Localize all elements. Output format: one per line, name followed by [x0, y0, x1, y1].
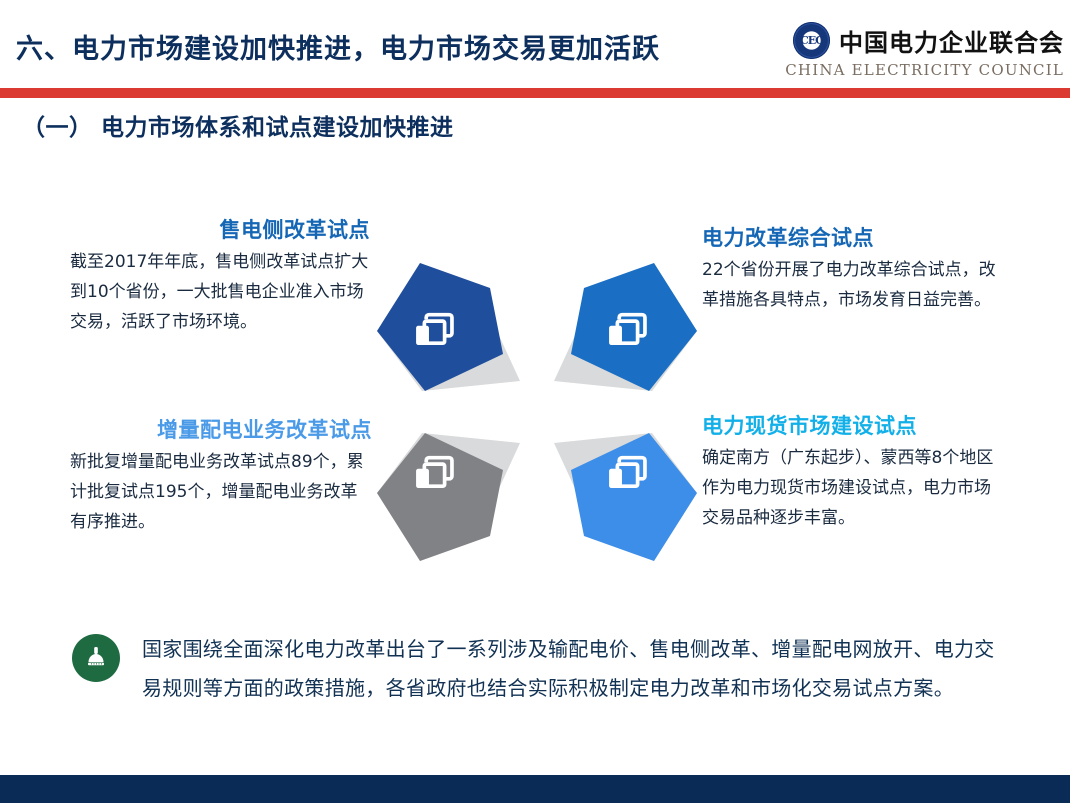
quadrant-bottom-left: 增量配电业务改革试点 新批复增量配电业务改革试点89个，累计批复试点195个，增…: [70, 414, 372, 537]
organization-logo: 中国电力企业联合会 CHINA ELECTRICITY COUNCIL: [785, 22, 1064, 79]
summary-note: 国家围绕全面深化电力改革出台了一系列涉及输配电价、售电侧改革、增量配电网放开、电…: [72, 630, 1012, 708]
quadrant-top-right: 电力改革综合试点 22个省份开展了电力改革综合试点，改革措施各具特点，市场发育日…: [702, 222, 1002, 316]
header-divider-rule: [0, 88, 1070, 98]
quadrant-bottom-right-title: 电力现货市场建设试点: [702, 410, 1002, 440]
pinwheel-segment-top-right: [554, 263, 697, 391]
logo-chinese-name: 中国电力企业联合会: [839, 23, 1064, 58]
stamp-icon: [72, 634, 120, 682]
quadrant-top-left: 售电侧改革试点 截至2017年年底，售电侧改革试点扩大到10个省份，一大批售电企…: [70, 214, 370, 337]
footer-bar: [0, 775, 1070, 803]
cec-emblem-icon: [793, 22, 830, 59]
quadrant-bottom-left-body: 新批复增量配电业务改革试点89个，累计批复试点195个，增量配电业务改革有序推进…: [70, 448, 372, 537]
page-title: 六、电力市场建设加快推进，电力市场交易更加活跃: [16, 27, 660, 66]
pinwheel-segment-bottom-left: [377, 433, 520, 561]
pinwheel-segment-bottom-right: [554, 433, 697, 561]
logo-english-name: CHINA ELECTRICITY COUNCIL: [785, 61, 1064, 79]
quadrant-top-left-body: 截至2017年年底，售电侧改革试点扩大到10个省份，一大批售电企业准入市场交易，…: [70, 248, 370, 337]
pinwheel-segment-top-left: [377, 263, 520, 391]
quadrant-top-right-body: 22个省份开展了电力改革综合试点，改革措施各具特点，市场发育日益完善。: [702, 256, 1002, 316]
quadrant-top-left-title: 售电侧改革试点: [70, 214, 370, 244]
quadrant-bottom-right: 电力现货市场建设试点 确定南方（广东起步）、蒙西等8个地区作为电力现货市场建设试…: [702, 410, 1002, 533]
quadrant-bottom-right-body: 确定南方（广东起步）、蒙西等8个地区作为电力现货市场建设试点，电力市场交易品种逐…: [702, 444, 1002, 533]
quadrant-top-right-title: 电力改革综合试点: [702, 222, 1002, 252]
section-heading: （一） 电力市场体系和试点建设加快推进: [22, 108, 454, 142]
pinwheel-diagram: [372, 236, 702, 586]
slide-root: 六、电力市场建设加快推进，电力市场交易更加活跃 中国电力企业联合会 CHINA …: [0, 0, 1070, 803]
summary-note-text: 国家围绕全面深化电力改革出台了一系列涉及输配电价、售电侧改革、增量配电网放开、电…: [142, 630, 1012, 708]
quadrant-bottom-left-title: 增量配电业务改革试点: [70, 414, 372, 444]
